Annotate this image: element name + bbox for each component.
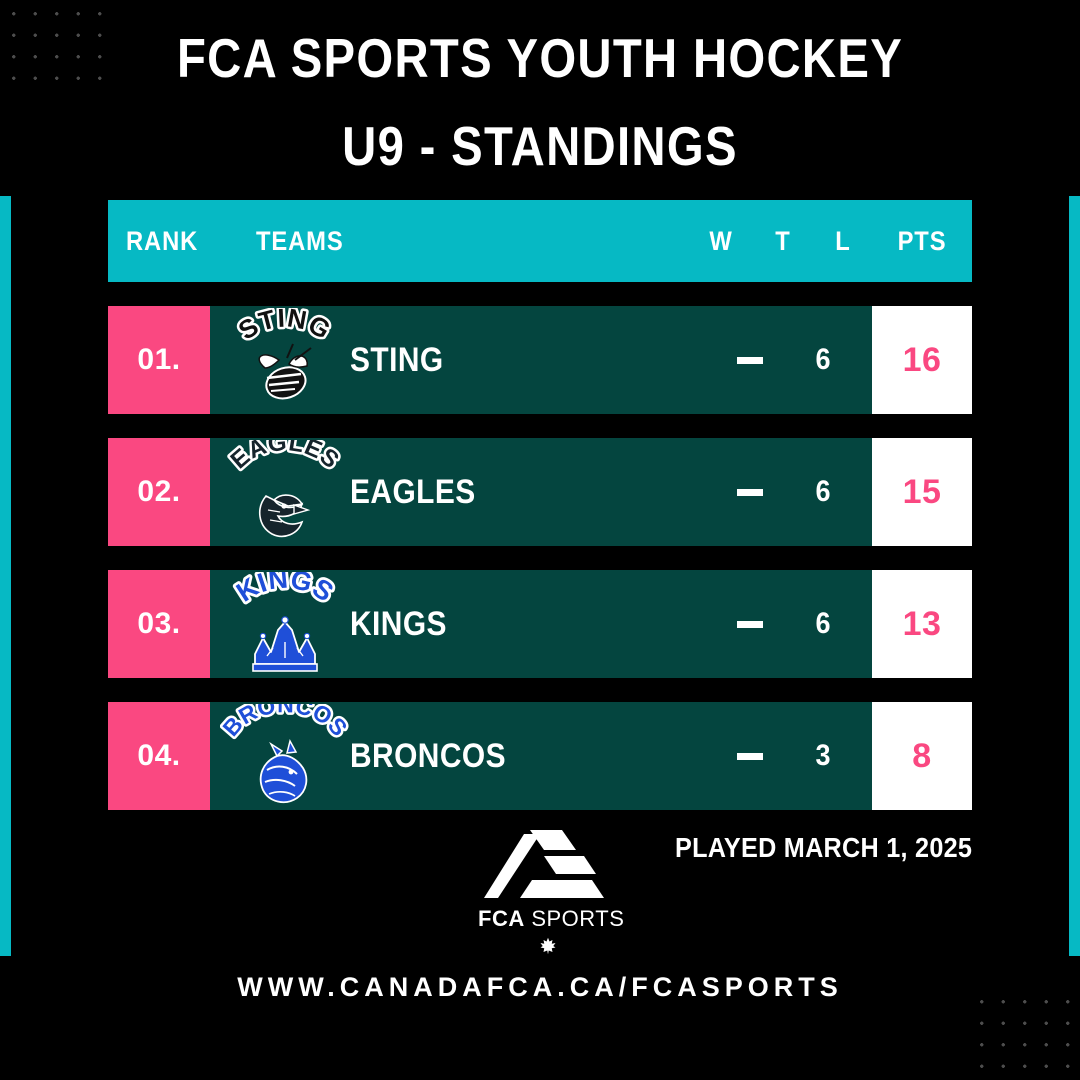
brand-light: SPORTS	[525, 906, 625, 931]
fca-monogram-icon	[484, 828, 612, 900]
separator-dash-icon	[737, 489, 763, 496]
stat-wins: 6	[795, 306, 851, 414]
separator-dash-icon	[737, 621, 763, 628]
rank-badge: 04.	[108, 702, 210, 810]
stat-wins: 6	[795, 570, 851, 678]
team-row-body: BRONCOS BRONCOS BRON	[210, 702, 872, 810]
column-header-pts: PTS	[878, 200, 966, 282]
team-row-body: KINGS KINGS KINGS 6	[210, 570, 872, 678]
team-name: BRONCOS	[350, 702, 506, 810]
separator-dash-icon	[737, 357, 763, 364]
stat-points: 15	[872, 438, 972, 546]
team-name: STING	[350, 306, 444, 414]
brand-bold: FCA	[478, 906, 525, 931]
page-title: FCA SPORTS YOUTH HOCKEY U9 - STANDINGS	[0, 14, 1080, 190]
table-row[interactable]: 04. BRONCOS BRONCOS	[108, 702, 972, 810]
svg-text:BRONCOS: BRONCOS	[220, 704, 350, 741]
table-header-row: RANK TEAMS W T L PTS	[108, 200, 972, 282]
sting-logo-icon: STING STING	[220, 308, 350, 412]
column-header-rank: RANK	[126, 200, 198, 282]
column-header-l: L	[816, 200, 871, 282]
svg-text:EAGLES: EAGLES	[226, 440, 345, 474]
team-name: EAGLES	[350, 438, 476, 546]
cyan-accent-bar-right	[1069, 196, 1080, 956]
standings-table: RANK TEAMS W T L PTS 01. STING STING	[108, 200, 972, 810]
maple-leaf-icon	[539, 937, 557, 955]
stat-points: 8	[872, 702, 972, 810]
eagles-logo-icon: EAGLES EAGLES	[220, 440, 350, 544]
column-header-t: T	[756, 200, 811, 282]
svg-text:STING: STING	[233, 308, 337, 346]
team-row-body: EAGLES EAGLES EAGLES	[210, 438, 872, 546]
fca-sports-logo: FCA SPORTS	[478, 828, 618, 955]
stat-wins: 3	[795, 702, 851, 810]
played-date: PLAYED MARCH 1, 2025	[675, 832, 972, 864]
column-header-w: W	[694, 200, 749, 282]
rank-badge: 02.	[108, 438, 210, 546]
website-url[interactable]: WWW.CANADAFCA.CA/FCASPORTS	[0, 972, 1080, 1003]
fca-sports-wordmark: FCA SPORTS	[478, 906, 618, 932]
broncos-logo-icon: BRONCOS BRONCOS	[220, 704, 350, 808]
table-row[interactable]: 02. EAGLES EAGLES	[108, 438, 972, 546]
title-subtitle: U9 - STANDINGS	[76, 102, 1005, 190]
kings-logo-icon: KINGS KINGS	[220, 572, 350, 676]
title-main: FCA SPORTS YOUTH HOCKEY	[76, 14, 1005, 102]
team-name: KINGS	[350, 570, 447, 678]
team-row-body: STING STING	[210, 306, 872, 414]
table-row[interactable]: 03. KINGS KINGS	[108, 570, 972, 678]
cyan-accent-bar-left	[0, 196, 11, 956]
stat-wins: 6	[795, 438, 851, 546]
stat-points: 16	[872, 306, 972, 414]
separator-dash-icon	[737, 753, 763, 760]
rank-badge: 03.	[108, 570, 210, 678]
table-row[interactable]: 01. STING STING	[108, 306, 972, 414]
column-header-teams: TEAMS	[256, 200, 344, 282]
stat-points: 13	[872, 570, 972, 678]
svg-text:KINGS: KINGS	[231, 572, 339, 608]
rank-badge: 01.	[108, 306, 210, 414]
